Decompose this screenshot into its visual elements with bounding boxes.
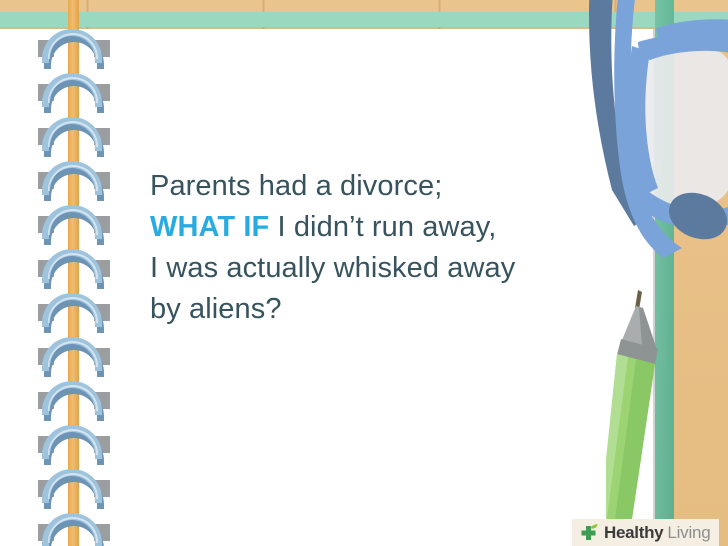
headline-line-4: by aliens? <box>150 289 620 330</box>
spiral-ring <box>38 202 110 242</box>
green-cross-leaf-icon <box>578 523 600 543</box>
healthy-living-logo: Healthy Living <box>572 519 719 546</box>
logo-light-word: Living <box>667 523 710 543</box>
spiral-ring <box>38 158 110 198</box>
headline-line-2: WHAT IF I didn’t run away, <box>150 207 620 248</box>
headline-line-4-text: by aliens? <box>150 293 282 325</box>
spiral-ring <box>38 70 110 110</box>
spiral-ring <box>38 510 110 546</box>
pencil-illustration <box>606 288 676 546</box>
headline-highlight: WHAT IF <box>150 211 269 243</box>
headline-line-1-text: Parents had a divorce; <box>150 170 442 202</box>
spiral-ring <box>38 378 110 418</box>
headline-line-3: I was actually whisked away <box>150 248 620 289</box>
spiral-ring <box>38 466 110 506</box>
illustration-scene: Parents had a divorce; WHAT IF I didn’t … <box>0 0 728 546</box>
spiral-ring <box>38 290 110 330</box>
logo-bold-word: Healthy <box>604 523 663 543</box>
spiral-ring <box>38 422 110 462</box>
spiral-ring <box>38 114 110 154</box>
headline-line-1: Parents had a divorce; <box>150 166 620 207</box>
headline-text: Parents had a divorce; WHAT IF I didn’t … <box>150 166 620 330</box>
headline-line-2-text: I didn’t run away, <box>269 211 496 243</box>
spiral-ring <box>38 26 110 66</box>
eyeglasses-illustration <box>560 0 728 280</box>
spiral-ring <box>38 334 110 374</box>
spiral-ring <box>38 246 110 286</box>
headline-line-3-text: I was actually whisked away <box>150 252 515 284</box>
